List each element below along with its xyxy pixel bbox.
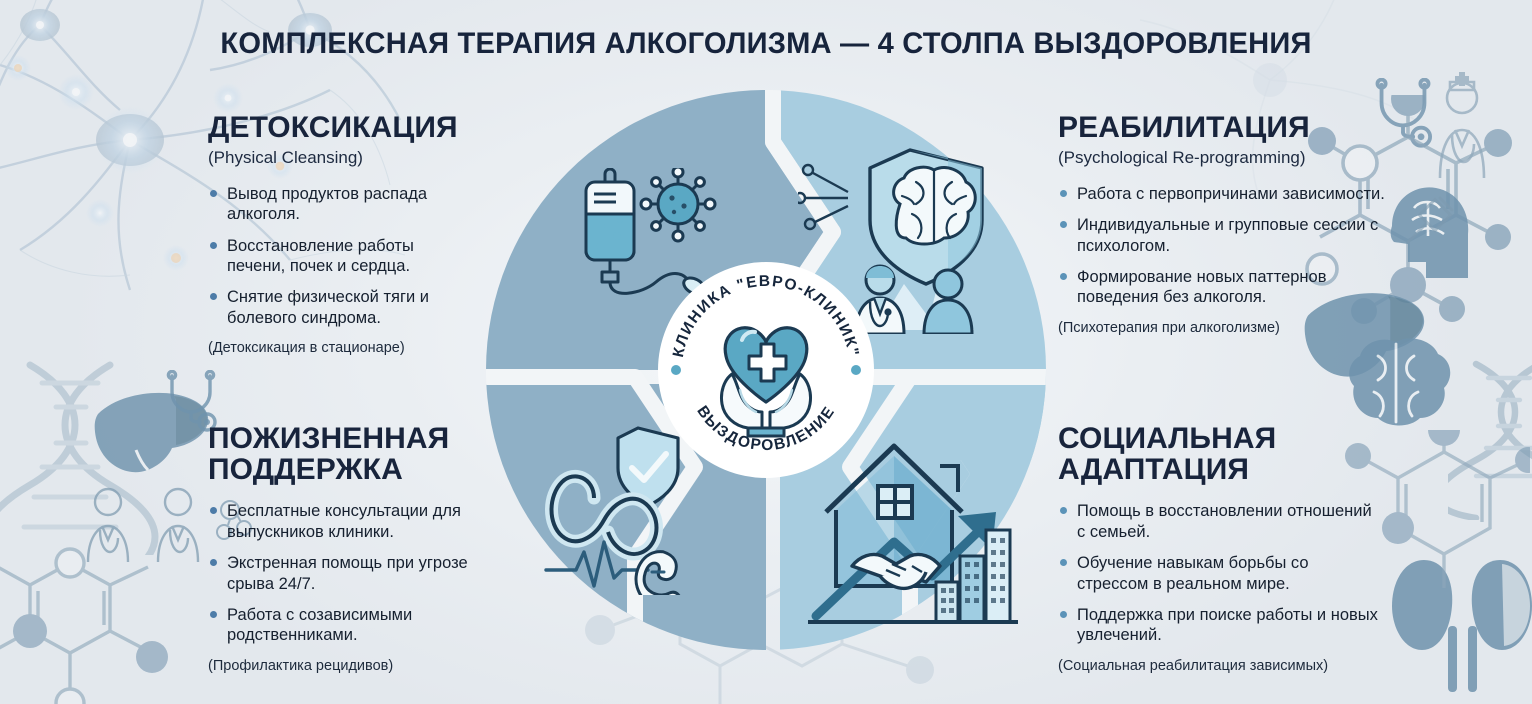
list-item: Работа с созависимыми родственниками.	[208, 605, 508, 646]
pillar-note-rehabilitation: (Психотерапия при алкоголизме)	[1058, 320, 1388, 336]
pillar-bullets-detox: Вывод продуктов распада алкоголя. Восста…	[208, 184, 476, 329]
pillar-bullets-lifelong-support: Бесплатные консультации для выпускников …	[208, 501, 508, 646]
dna-helix-icon	[1448, 360, 1532, 520]
list-item: Помощь в восстановлении отношений с семь…	[1058, 501, 1378, 542]
pillar-block-rehabilitation: РЕАБИЛИТАЦИЯ (Psychological Re-programmi…	[1058, 113, 1388, 336]
nurse-icon	[1414, 68, 1532, 188]
badge-dot-right	[851, 365, 861, 375]
pillar-heading-detox: ДЕТОКСИКАЦИЯ	[208, 113, 476, 144]
pillar-note-detox: (Детоксикация в стационаре)	[208, 340, 476, 356]
liver-icon	[92, 388, 212, 483]
pillar-subtitle-rehabilitation: (Psychological Re-programming)	[1058, 148, 1388, 168]
list-item: Работа с первопричинами зависимости.	[1058, 184, 1388, 204]
pillar-heading-social-adaptation: СОЦИАЛЬНАЯ АДАПТАЦИЯ	[1058, 424, 1378, 485]
list-item: Формирование новых паттернов поведения б…	[1058, 267, 1388, 308]
pillar-note-social-adaptation: (Социальная реабилитация зависимых)	[1058, 658, 1378, 674]
pillar-heading-rehabilitation: РЕАБИЛИТАЦИЯ	[1058, 113, 1388, 144]
recovery-wheel: КЛИНИКА "ЕВРО-КЛИНИК" ВЫЗДОРОВЛЕНИЕ	[480, 84, 1052, 656]
list-item: Поддержка при поиске работы и новых увле…	[1058, 605, 1378, 646]
pillar-bullets-social-adaptation: Помощь в восстановлении отношений с семь…	[1058, 501, 1378, 646]
infographic-canvas: КОМПЛЕКСНАЯ ТЕРАПИЯ АЛКОГОЛИЗМА — 4 СТОЛ…	[0, 0, 1532, 704]
list-item: Экстренная помощь при угрозе срыва 24/7.	[208, 553, 508, 594]
molecule-structure-icon	[0, 545, 210, 704]
dna-helix-icon	[0, 355, 240, 555]
list-item: Индивидуальные и групповые сессии с псих…	[1058, 215, 1388, 256]
list-item: Обучение навыкам борьбы со стрессом в ре…	[1058, 553, 1378, 594]
pillar-block-detox: ДЕТОКСИКАЦИЯ (Physical Cleansing) Вывод …	[208, 113, 476, 356]
list-item: Снятие физической тяги и болевого синдро…	[208, 287, 476, 328]
pillar-subtitle-detox: (Physical Cleansing)	[208, 148, 476, 168]
list-item: Бесплатные консультации для выпускников …	[208, 501, 508, 542]
syringe-icon	[1400, 190, 1460, 250]
pillar-note-lifelong-support: (Профилактика рецидивов)	[208, 658, 508, 674]
pillar-bullets-rehabilitation: Работа с первопричинами зависимости. Инд…	[1058, 184, 1388, 308]
list-item: Вывод продуктов распада алкоголя.	[208, 184, 476, 225]
pillar-block-social-adaptation: СОЦИАЛЬНАЯ АДАПТАЦИЯ Помощь в восстановл…	[1058, 424, 1378, 674]
pillar-block-lifelong-support: ПОЖИЗНЕННАЯ ПОДДЕРЖКА Бесплатные консуль…	[208, 424, 508, 674]
center-badge: КЛИНИКА "ЕВРО-КЛИНИК" ВЫЗДОРОВЛЕНИЕ	[658, 262, 874, 478]
pillar-heading-lifelong-support: ПОЖИЗНЕННАЯ ПОДДЕРЖКА	[208, 424, 508, 485]
list-item: Восстановление работы печени, почек и се…	[208, 236, 476, 277]
kidneys-icon	[1390, 540, 1532, 700]
page-title: КОМПЛЕКСНАЯ ТЕРАПИЯ АЛКОГОЛИЗМА — 4 СТОЛ…	[23, 27, 1509, 61]
badge-dot-left	[671, 365, 681, 375]
